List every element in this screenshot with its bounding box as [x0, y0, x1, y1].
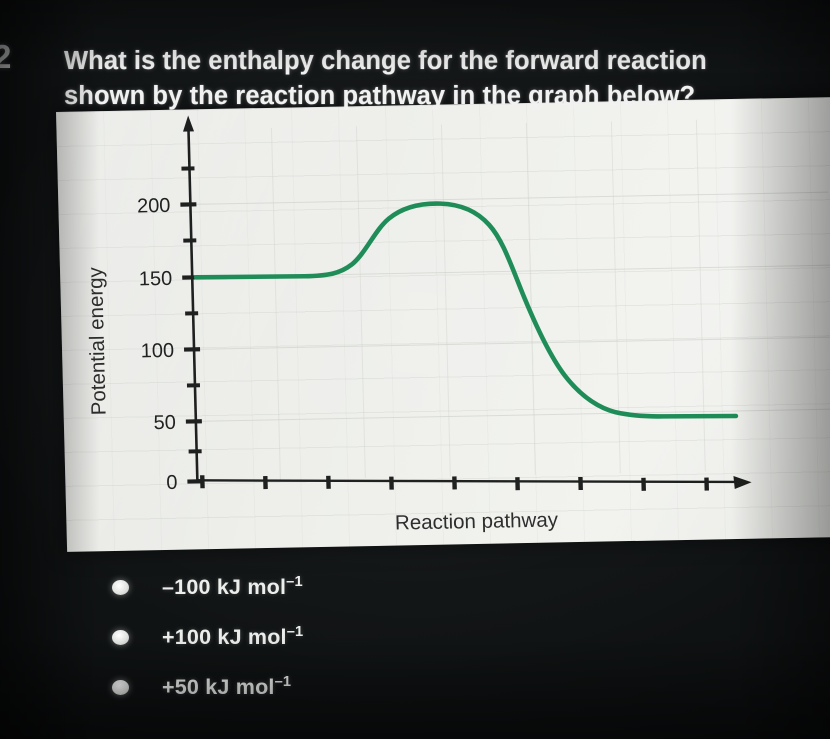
radio-bullet-icon-1[interactable] [112, 580, 129, 595]
question-number: 2 [0, 38, 10, 76]
y-axis-title: Potential energy [84, 266, 111, 415]
question-line-1: What is the enthalpy change for the forw… [64, 44, 764, 79]
option-row-2[interactable]: +100 kJ mol–1 [112, 612, 303, 662]
x-axis-ticks [202, 466, 707, 501]
y-tick-label-50: 50 [153, 412, 176, 434]
radio-bullet-icon-2[interactable] [112, 630, 129, 645]
x-axis-title: Reaction pathway [395, 508, 559, 534]
option-exponent-3: –1 [275, 673, 292, 689]
option-label-1: –100 kJ mol–1 [162, 575, 303, 600]
option-unit-3: kJ mol [205, 675, 274, 699]
chart-gridlines [190, 192, 830, 421]
chart-gridlines-vertical [271, 120, 705, 480]
screen-photo-background: 2 What is the enthalpy change for the fo… [0, 0, 830, 739]
reaction-pathway-chart: 200 150 100 50 0 Potential energy [56, 97, 830, 552]
answer-options-list: –100 kJ mol–1 +100 kJ mol–1 +50 kJ mol–1 [112, 562, 303, 712]
option-unit-2: kJ mol [217, 625, 286, 649]
option-value-2: +100 [162, 625, 211, 649]
radio-bullet-icon-3[interactable] [112, 680, 129, 695]
option-exponent-1: –1 [286, 573, 303, 589]
y-tick-label-0: 0 [166, 472, 178, 494]
option-row-1[interactable]: –100 kJ mol–1 [112, 562, 303, 612]
option-label-3: +50 kJ mol–1 [162, 675, 291, 700]
question-line-2: shown by the reaction pathway in the gra… [64, 79, 764, 114]
option-value-1: –100 [162, 575, 211, 599]
option-unit-1: kJ mol [217, 575, 286, 599]
y-tick-label-100: 100 [140, 340, 174, 363]
graph-panel: 200 150 100 50 0 Potential energy [56, 97, 830, 552]
option-label-2: +100 kJ mol–1 [162, 625, 303, 650]
option-row-3[interactable]: +50 kJ mol–1 [112, 662, 303, 712]
y-tick-label-200: 200 [137, 195, 171, 218]
question-text: What is the enthalpy change for the forw… [64, 44, 764, 113]
option-value-3: +50 [162, 675, 199, 699]
y-tick-label-150: 150 [139, 268, 173, 291]
option-exponent-2: –1 [287, 623, 304, 639]
